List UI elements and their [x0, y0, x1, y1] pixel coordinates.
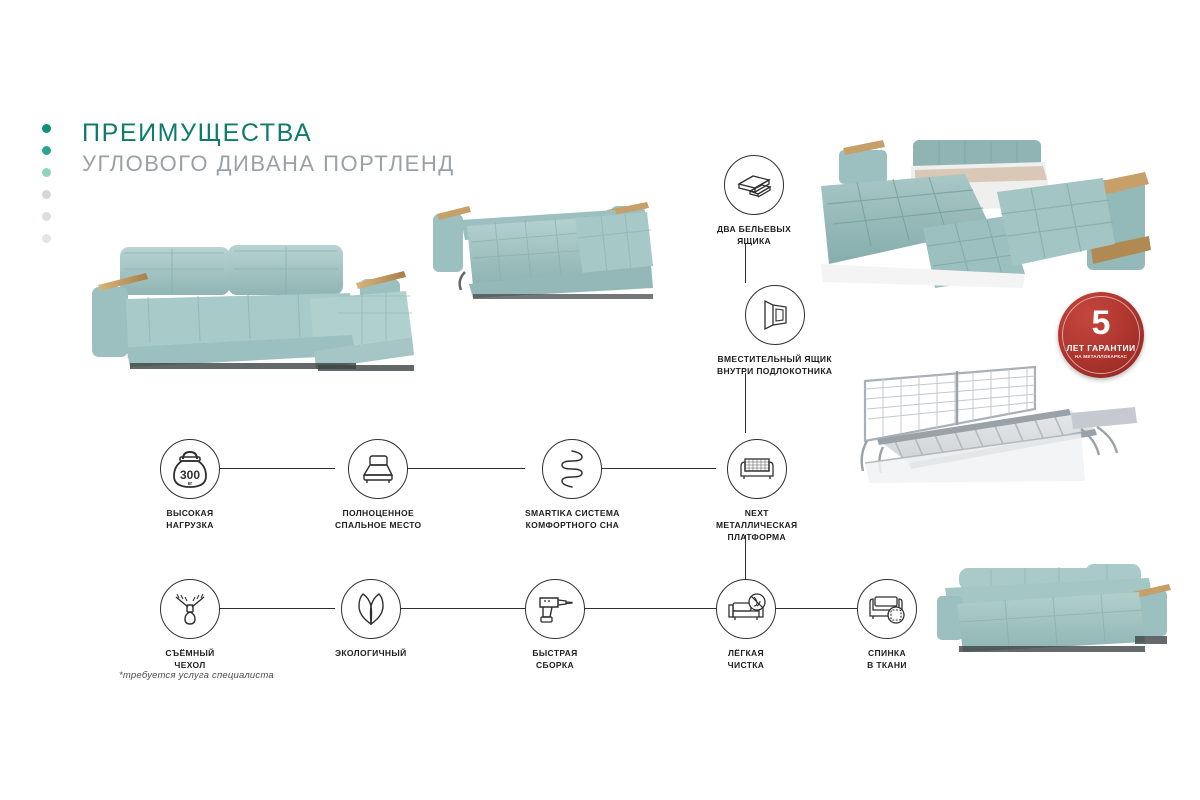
zipper-icon	[173, 590, 207, 628]
label-line: ВЫСОКАЯ	[166, 507, 213, 519]
fabric-back-circle	[857, 579, 917, 639]
node-armrest-box[interactable]: ВМЕСТИТЕЛЬНЫЙ ЯЩИК ВНУТРИ ПОДЛОКОТНИКА	[717, 285, 832, 377]
label-line: ВМЕСТИТЕЛЬНЫЙ ЯЩИК	[717, 353, 832, 365]
sofa-back-icon	[866, 594, 908, 624]
badge-number: 5	[1092, 307, 1111, 339]
photo-sofa-back	[935, 560, 1175, 660]
connector-r1-2-3	[393, 468, 525, 469]
label-line: SMARTIKA СИСТЕМА	[525, 507, 620, 519]
header-dot-1	[42, 124, 51, 133]
connector-r2-4-5	[774, 608, 857, 609]
armrest-box-label: ВМЕСТИТЕЛЬНЫЙ ЯЩИК ВНУТРИ ПОДЛОКОТНИКА	[717, 353, 832, 377]
connector-r2-2-3	[393, 608, 525, 609]
label-line: БЫСТРАЯ	[532, 647, 577, 659]
label-line: ПЛАТФОРМА	[716, 531, 797, 543]
label-line: ЭКОЛОГИЧНЫЙ	[335, 647, 407, 659]
fast-assembly-circle	[525, 579, 585, 639]
bed-icon	[361, 454, 395, 484]
page-title: ПРЕИМУЩЕСТВА	[82, 118, 455, 149]
node-fabric-back[interactable]: СПИНКА В ТКАНИ	[857, 579, 917, 671]
label-line: СПИНКА	[867, 647, 907, 659]
label-line: ДВА БЕЛЬЕВЫХ	[717, 223, 791, 235]
next-platform-label: NEXT МЕТАЛЛИЧЕСКАЯ ПЛАТФОРМА	[716, 507, 797, 543]
removable-cover-label: СЪЁМНЫЙ ЧЕХОЛ	[165, 647, 214, 671]
page-subtitle: УГЛОВОГО ДИВАНА ПОРТЛЕНД	[82, 150, 455, 179]
removable-cover-circle	[160, 579, 220, 639]
footnote: *требуется услуга специалиста	[119, 670, 274, 681]
armrest-box-icon	[760, 299, 790, 331]
label-line: МЕТАЛЛИЧЕСКАЯ	[716, 519, 797, 531]
full-bed-circle	[348, 439, 408, 499]
warranty-badge: 5 ЛЕТ ГАРАНТИИ НА МЕТАЛЛОКАРКАС	[1058, 292, 1144, 378]
connector-r2-1-2	[218, 608, 335, 609]
high-load-circle: 300 кг	[160, 439, 220, 499]
infographic-page: ПРЕИМУЩЕСТВА УГЛОВОГО ДИВАНА ПОРТЛЕНД	[0, 0, 1200, 800]
high-load-label: ВЫСОКАЯ НАГРУЗКА	[166, 507, 213, 531]
armrest-box-circle	[745, 285, 805, 345]
node-removable-cover[interactable]: СЪЁМНЫЙ ЧЕХОЛ	[160, 579, 220, 671]
header-dot-5	[42, 212, 51, 221]
drawer-icon	[736, 171, 772, 199]
header-dot-2	[42, 146, 51, 155]
label-line: НАГРУЗКА	[166, 519, 213, 531]
fast-assembly-label: БЫСТРАЯ СБОРКА	[532, 647, 577, 671]
node-fast-assembly[interactable]: БЫСТРАЯ СБОРКА	[525, 579, 585, 671]
drill-icon	[536, 593, 574, 625]
connector-armrest-to-platform	[745, 373, 746, 433]
two-drawers-label: ДВА БЕЛЬЕВЫХ ЯЩИКА	[717, 223, 791, 247]
connector-r1-3-4	[583, 468, 716, 469]
weight-icon: 300 кг	[171, 449, 209, 489]
smartika-label: SMARTIKA СИСТЕМА КОМФОРТНОГО СНА	[525, 507, 620, 531]
node-full-bed[interactable]: ПОЛНОЦЕННОЕ СПАЛЬНОЕ МЕСТО	[335, 439, 422, 531]
sofa-platform-icon	[738, 456, 776, 482]
eco-circle	[341, 579, 401, 639]
photo-corner-sofa	[88, 243, 433, 378]
photo-sofa-bed	[425, 198, 675, 303]
photo-sofa-storage	[815, 132, 1167, 290]
label-line: NEXT	[716, 507, 797, 519]
header-dot-3	[42, 168, 51, 177]
easy-clean-circle	[716, 579, 776, 639]
badge-line-1: ЛЕТ ГАРАНТИИ	[1066, 343, 1135, 353]
label-line: В ТКАНИ	[867, 659, 907, 671]
weight-unit: кг	[188, 481, 193, 487]
node-smartika[interactable]: SMARTIKA СИСТЕМА КОМФОРТНОГО СНА	[525, 439, 620, 531]
connector-r2-3-4	[583, 608, 716, 609]
two-drawers-circle	[724, 155, 784, 215]
node-high-load[interactable]: 300 кг ВЫСОКАЯ НАГРУЗКА	[160, 439, 220, 531]
weight-value: 300	[180, 468, 200, 482]
leaf-icon	[355, 592, 387, 626]
label-line: ЛЁГКАЯ	[728, 647, 765, 659]
node-next-platform[interactable]: NEXT МЕТАЛЛИЧЕСКАЯ ПЛАТФОРМА	[716, 439, 797, 543]
node-easy-clean[interactable]: ЛЁГКАЯ ЧИСТКА	[716, 579, 776, 671]
easy-clean-label: ЛЁГКАЯ ЧИСТКА	[728, 647, 765, 671]
header-dot-4	[42, 190, 51, 199]
node-eco[interactable]: ЭКОЛОГИЧНЫЙ	[335, 579, 407, 659]
label-line: СЪЁМНЫЙ	[165, 647, 214, 659]
badge-line-2: НА МЕТАЛЛОКАРКАС	[1075, 354, 1127, 359]
label-line: ВНУТРИ ПОДЛОКОТНИКА	[717, 365, 832, 377]
header-dot-6	[42, 234, 51, 243]
fabric-back-label: СПИНКА В ТКАНИ	[867, 647, 907, 671]
photo-metal-frame	[845, 363, 1157, 488]
label-line: ЯЩИКА	[717, 235, 791, 247]
connector-drawers-to-armrest	[745, 243, 746, 283]
label-line: СБОРКА	[532, 659, 577, 671]
page-title-block: ПРЕИМУЩЕСТВА УГЛОВОГО ДИВАНА ПОРТЛЕНД	[82, 118, 455, 178]
next-platform-circle	[727, 439, 787, 499]
eco-label: ЭКОЛОГИЧНЫЙ	[335, 647, 407, 659]
spring-icon	[559, 449, 585, 489]
label-line: КОМФОРТНОГО СНА	[525, 519, 620, 531]
clean-sofa-icon	[725, 593, 767, 625]
connector-r1-1-2	[218, 468, 335, 469]
label-line: ПОЛНОЦЕННОЕ	[335, 507, 422, 519]
header-dot-list	[42, 124, 51, 243]
node-two-drawers[interactable]: ДВА БЕЛЬЕВЫХ ЯЩИКА	[717, 155, 791, 247]
smartika-circle	[542, 439, 602, 499]
label-line: ЧИСТКА	[728, 659, 765, 671]
label-line: СПАЛЬНОЕ МЕСТО	[335, 519, 422, 531]
full-bed-label: ПОЛНОЦЕННОЕ СПАЛЬНОЕ МЕСТО	[335, 507, 422, 531]
